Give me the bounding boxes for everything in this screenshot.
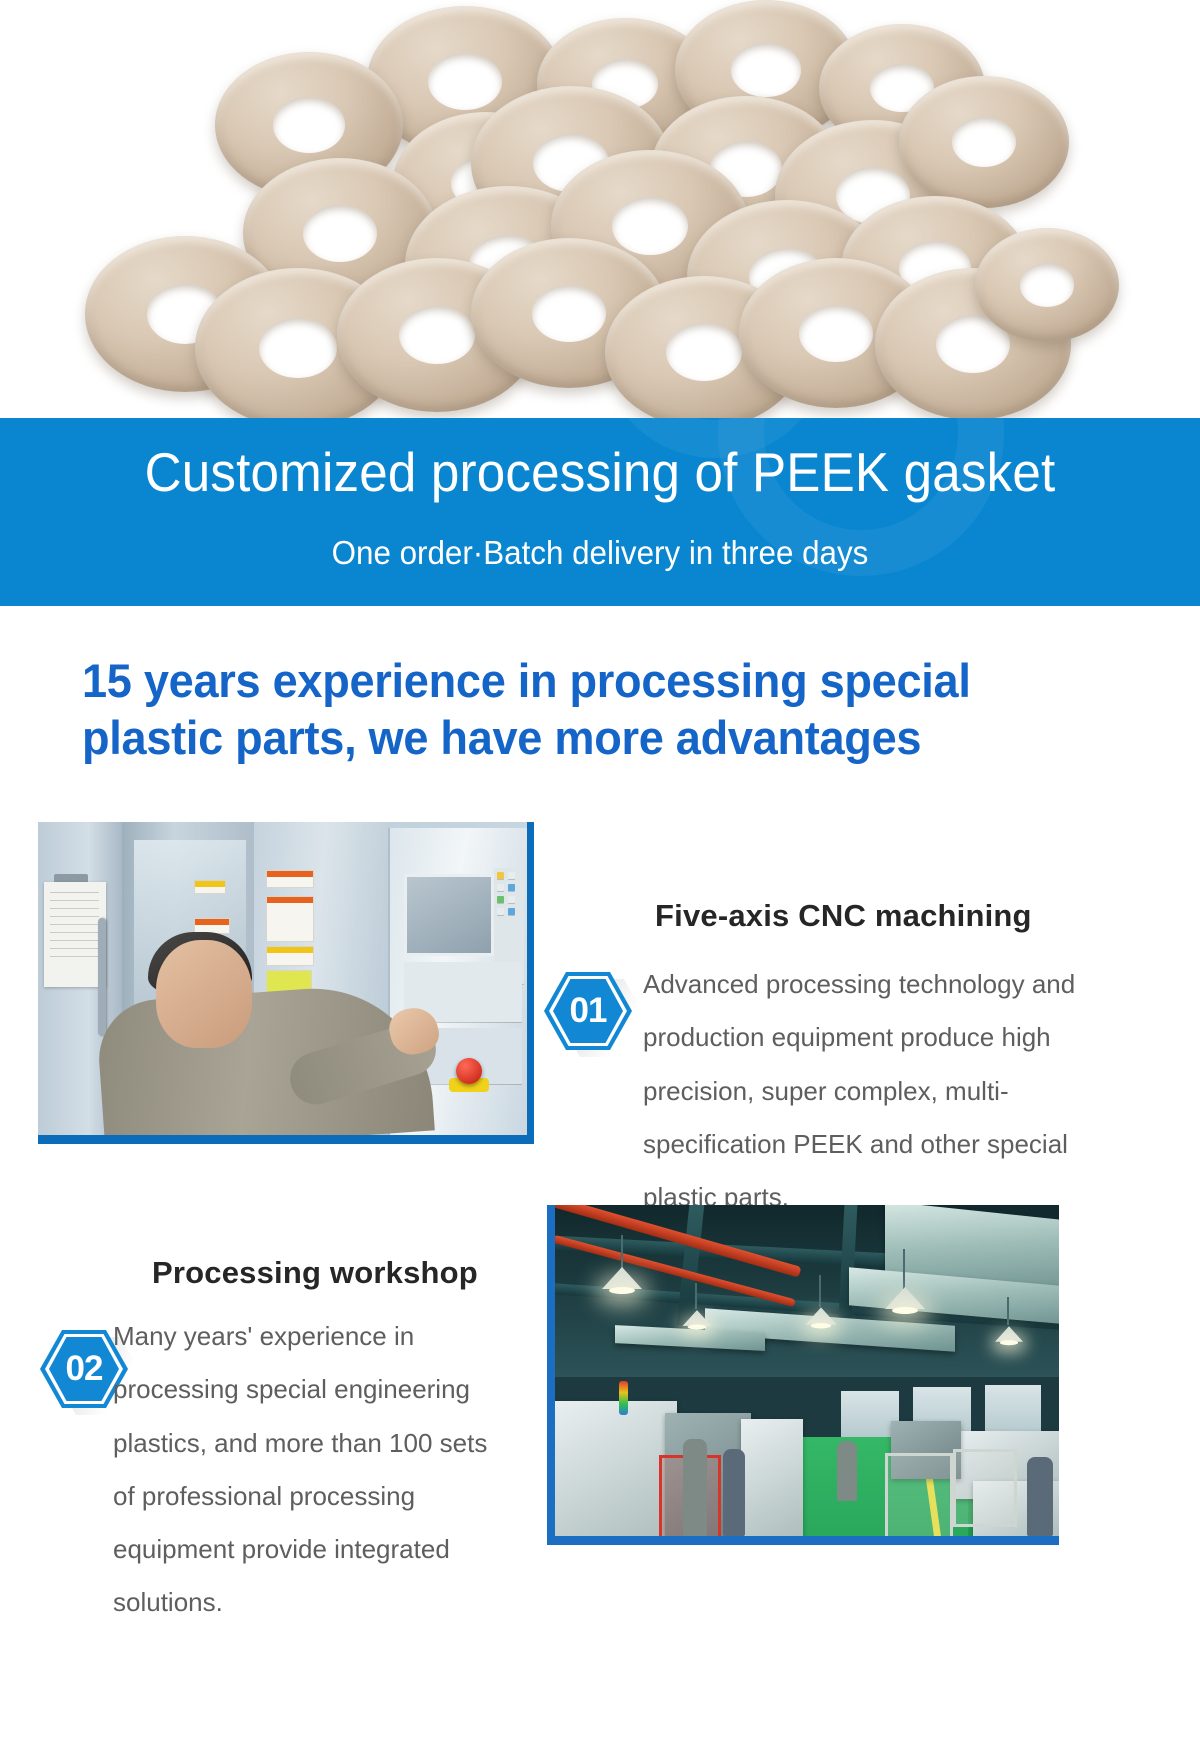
- hero-product-photo: [0, 0, 1200, 420]
- pendant-lamp-icon: [683, 1310, 712, 1326]
- badge-number: 01: [544, 972, 632, 1050]
- gasket-pile-illustration: [75, 0, 1095, 420]
- body-line: solutions.: [113, 1576, 523, 1629]
- feature-badge-01: 01: [544, 972, 632, 1050]
- feature-body-01: Advanced processing technology and produ…: [643, 958, 1083, 1224]
- worker-figure: [837, 1441, 857, 1501]
- worker-figure: [1027, 1457, 1053, 1536]
- cnc-door-handle: [98, 918, 106, 1036]
- worker-head: [156, 940, 252, 1048]
- body-line: processing special engineering: [113, 1363, 523, 1416]
- body-line: of professional processing: [113, 1470, 523, 1523]
- feature-title-02: Processing workshop: [152, 1255, 478, 1291]
- body-line: equipment provide integrated: [113, 1523, 523, 1576]
- keypad-key: [508, 896, 515, 903]
- warning-label: [266, 870, 314, 888]
- title-banner: Customized processing of PEEK gasket One…: [0, 418, 1200, 606]
- cnc-display-screen: [404, 874, 494, 956]
- pendant-lamp-icon: [805, 1307, 836, 1324]
- keypad-key: [497, 908, 504, 915]
- keypad-key: [497, 896, 504, 903]
- pendant-lamp-icon: [602, 1267, 642, 1289]
- lamp-wire: [695, 1283, 697, 1309]
- material-cart: [953, 1449, 1017, 1527]
- gasket-ring: [975, 228, 1119, 342]
- keypad-key: [497, 884, 504, 891]
- lamp-wire: [621, 1235, 623, 1269]
- lamp-wire: [1007, 1297, 1009, 1325]
- gasket-ring: [899, 76, 1069, 208]
- body-line: Many years' experience in: [113, 1310, 523, 1363]
- keypad-key: [508, 872, 515, 879]
- body-line: plastics, and more than 100 sets: [113, 1417, 523, 1470]
- pendant-lamp-icon: [995, 1326, 1023, 1341]
- signal-tower-light: [619, 1381, 628, 1415]
- caution-label: [266, 946, 314, 966]
- workshop-photo: [555, 1205, 1059, 1536]
- keypad-key: [508, 908, 515, 915]
- emergency-stop-button: [456, 1058, 482, 1084]
- pendant-lamp-icon: [885, 1287, 925, 1309]
- lamp-wire: [819, 1275, 821, 1307]
- worker-figure: [683, 1439, 707, 1536]
- warning-label: [266, 896, 314, 942]
- worker-figure: [723, 1449, 745, 1536]
- lamp-wire: [903, 1249, 905, 1289]
- material-cart: [885, 1453, 953, 1536]
- keypad-key: [508, 884, 515, 891]
- posted-document: [44, 882, 106, 987]
- cnc-machine-unit: [741, 1419, 803, 1536]
- banner-subtitle: One order·Batch delivery in three days: [30, 534, 1170, 572]
- banner-title: Customized processing of PEEK gasket: [42, 440, 1158, 504]
- section-headline: 15 years experience in processing specia…: [82, 652, 1052, 767]
- feature-title-01: Five-axis CNC machining: [655, 898, 1032, 934]
- feature-body-02: Many years' experience in processing spe…: [113, 1310, 523, 1630]
- keypad-key: [497, 872, 504, 879]
- cnc-machining-photo: [38, 822, 527, 1135]
- caution-label: [194, 880, 226, 894]
- body-line: Advanced processing technology: [643, 969, 1025, 999]
